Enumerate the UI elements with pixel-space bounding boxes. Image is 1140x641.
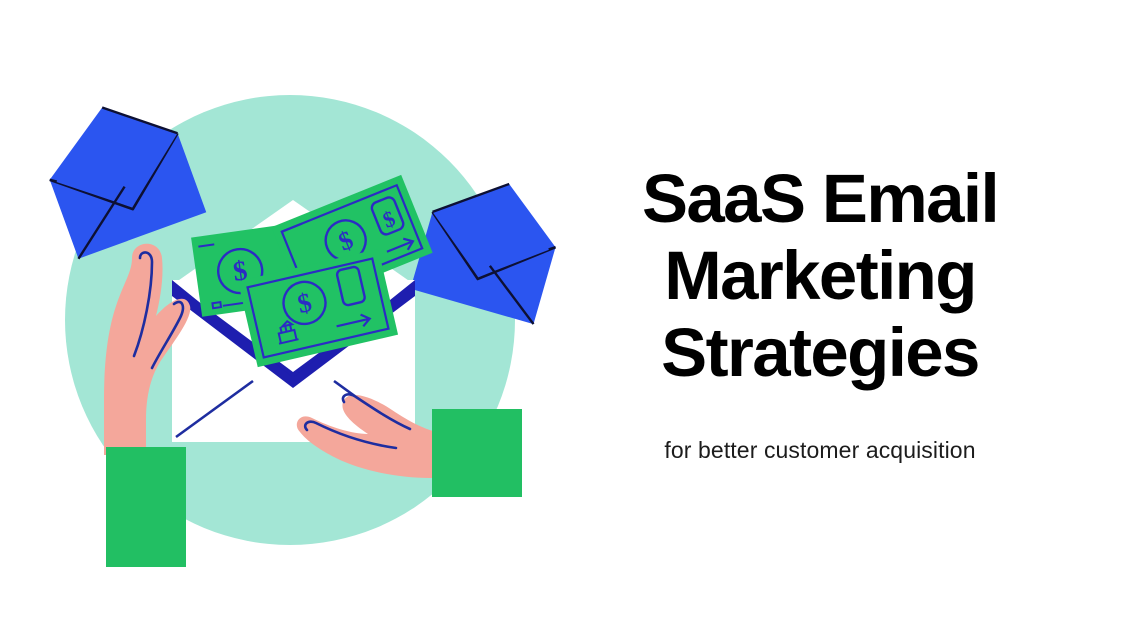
- page-title-line-3: Strategies: [570, 314, 1070, 391]
- illustration-svg: $ $ $ $: [0, 0, 560, 641]
- page-subtitle: for better customer acquisition: [570, 391, 1070, 465]
- poster-canvas: $ $ $ $: [0, 0, 1140, 641]
- text-block: SaaS Email Marketing Strategies for bett…: [570, 160, 1070, 465]
- illustration: $ $ $ $: [0, 0, 560, 641]
- hand-left-sleeve: [106, 447, 186, 567]
- page-title-line-2: Marketing: [570, 237, 1070, 314]
- page-title: SaaS Email Marketing Strategies: [570, 160, 1070, 391]
- hand-right-sleeve: [432, 409, 522, 497]
- page-title-line-1: SaaS Email: [570, 160, 1070, 237]
